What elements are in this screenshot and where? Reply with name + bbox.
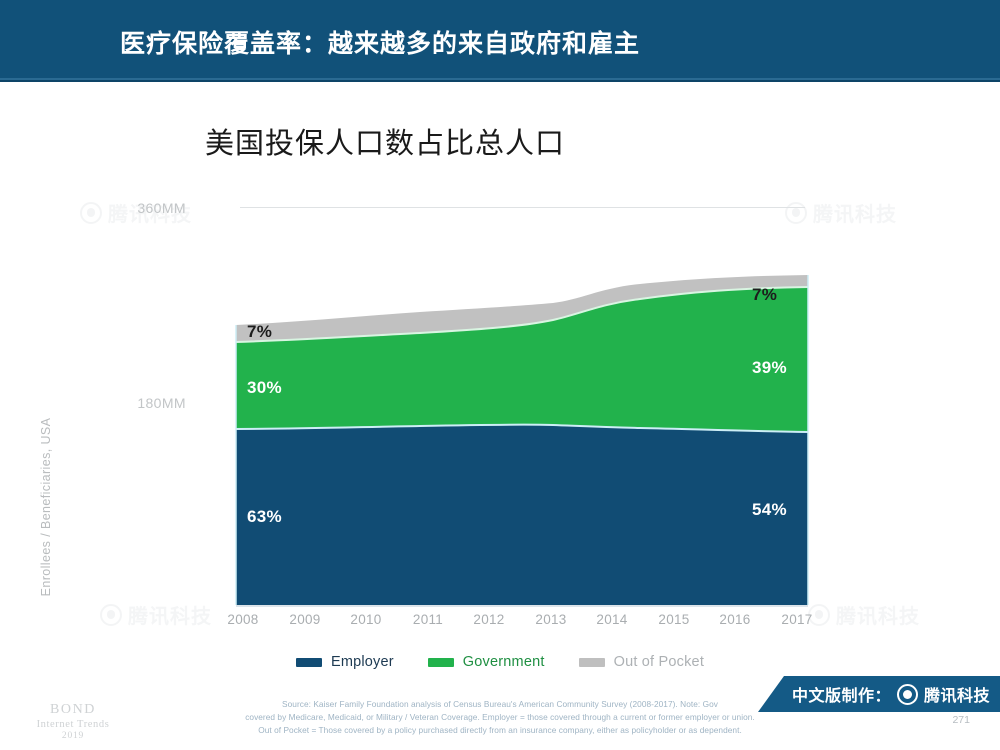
chart-areas xyxy=(0,170,1000,650)
x-axis-tick-2008: 2008 xyxy=(227,612,258,627)
header-rule xyxy=(0,78,1000,80)
page-title: 医疗保险覆盖率：越来越多的来自政府和雇主 xyxy=(120,24,640,60)
data-label-government-2008: 30% xyxy=(247,378,282,398)
x-axis-tick-2010: 2010 xyxy=(350,612,381,627)
source-line-3: Out of Pocket = Those covered by a polic… xyxy=(0,724,1000,737)
legend-item-employer[interactable]: Employer xyxy=(296,654,394,670)
legend-item-government[interactable]: Government xyxy=(428,654,545,670)
area-employer xyxy=(236,425,808,605)
slide: 医疗保险覆盖率：越来越多的来自政府和雇主 美国投保人口数占比总人口 腾讯科技 腾… xyxy=(0,0,1000,750)
bond-logo-name: BOND xyxy=(18,702,128,718)
data-label-out-of-pocket-2008: 7% xyxy=(247,322,272,342)
legend-label-employer: Employer xyxy=(331,654,394,670)
brand-bar-prefix: 中文版制作： xyxy=(792,682,891,706)
chart-baseline xyxy=(236,605,808,607)
legend-label-government: Government xyxy=(463,654,545,670)
data-label-employer-2017: 54% xyxy=(752,500,787,520)
bond-logo-year: 2019 xyxy=(18,731,128,741)
brand-bar: 中文版制作： 腾讯科技 xyxy=(758,676,1000,712)
x-axis-tick-2009: 2009 xyxy=(289,612,320,627)
brand-bar-name: 腾讯科技 xyxy=(924,682,990,706)
page-number: 271 xyxy=(952,714,970,726)
data-label-employer-2008: 63% xyxy=(247,507,282,527)
legend-label-out-of-pocket: Out of Pocket xyxy=(614,654,704,670)
tencent-logo-icon xyxy=(897,684,918,705)
header-banner: 医疗保险覆盖率：越来越多的来自政府和雇主 xyxy=(0,0,1000,82)
bond-logo: BOND Internet Trends 2019 xyxy=(18,702,128,741)
chart-legend: Employer Government Out of Pocket xyxy=(0,650,1000,674)
x-axis-tick-2015: 2015 xyxy=(658,612,689,627)
x-axis-tick-2017: 2017 xyxy=(781,612,812,627)
x-axis-tick-2012: 2012 xyxy=(473,612,504,627)
x-axis-tick-2013: 2013 xyxy=(535,612,566,627)
x-axis-tick-2014: 2014 xyxy=(596,612,627,627)
source-line-2: covered by Medicare, Medicaid, or Milita… xyxy=(0,711,1000,724)
x-axis-tick-2011: 2011 xyxy=(413,612,443,627)
bond-logo-subtitle: Internet Trends xyxy=(18,719,128,730)
legend-swatch-icon xyxy=(579,658,605,667)
data-label-government-2017: 39% xyxy=(752,358,787,378)
legend-swatch-icon xyxy=(296,658,322,667)
data-label-out-of-pocket-2017: 7% xyxy=(752,285,777,305)
stacked-area-chart: Enrollees / Beneficiaries, USA 360MM 180… xyxy=(0,170,1000,650)
legend-item-out-of-pocket[interactable]: Out of Pocket xyxy=(579,654,704,670)
chart-subtitle: 美国投保人口数占比总人口 xyxy=(205,120,565,162)
legend-swatch-icon xyxy=(428,658,454,667)
x-axis: 2008 2009 2010 2011 2012 2013 2014 2015 … xyxy=(0,612,1000,634)
x-axis-tick-2016: 2016 xyxy=(719,612,750,627)
